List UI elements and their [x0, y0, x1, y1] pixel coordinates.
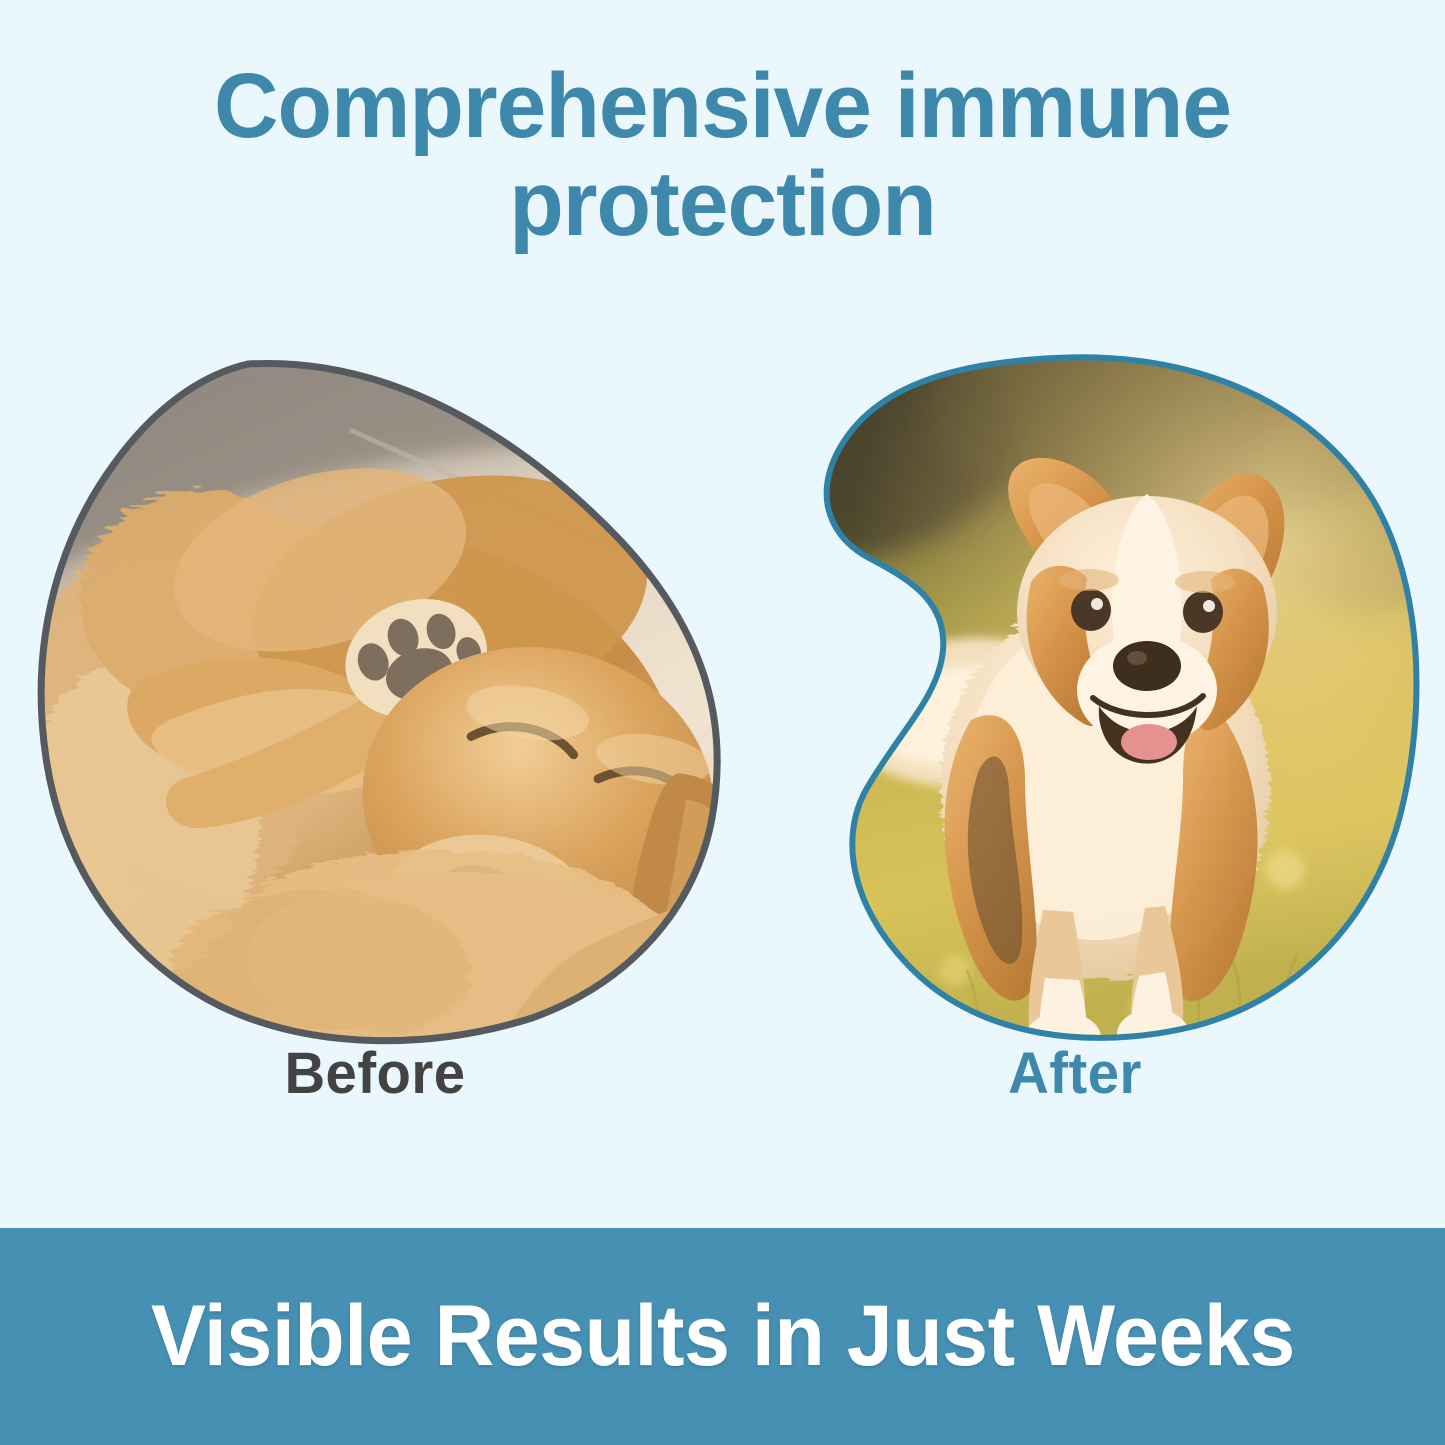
before-label: Before	[31, 1040, 720, 1107]
after-label: After	[736, 1040, 1415, 1107]
infographic-canvas: Comprehensive immune protection	[0, 0, 1445, 1445]
results-banner-text: Visible Results in Just Weeks	[151, 1287, 1295, 1386]
page-title: Comprehensive immune protection	[22, 58, 1424, 253]
after-image-blob	[725, 350, 1425, 1050]
results-banner: Visible Results in Just Weeks	[0, 1228, 1445, 1445]
before-after-comparison: Before	[0, 350, 1445, 1150]
page-title-line-2: protection	[128, 156, 1316, 254]
before-panel: Before	[20, 350, 730, 1150]
page-title-line-1: Comprehensive immune	[128, 58, 1316, 156]
before-image-blob	[20, 350, 730, 1050]
after-panel: After	[725, 350, 1425, 1150]
